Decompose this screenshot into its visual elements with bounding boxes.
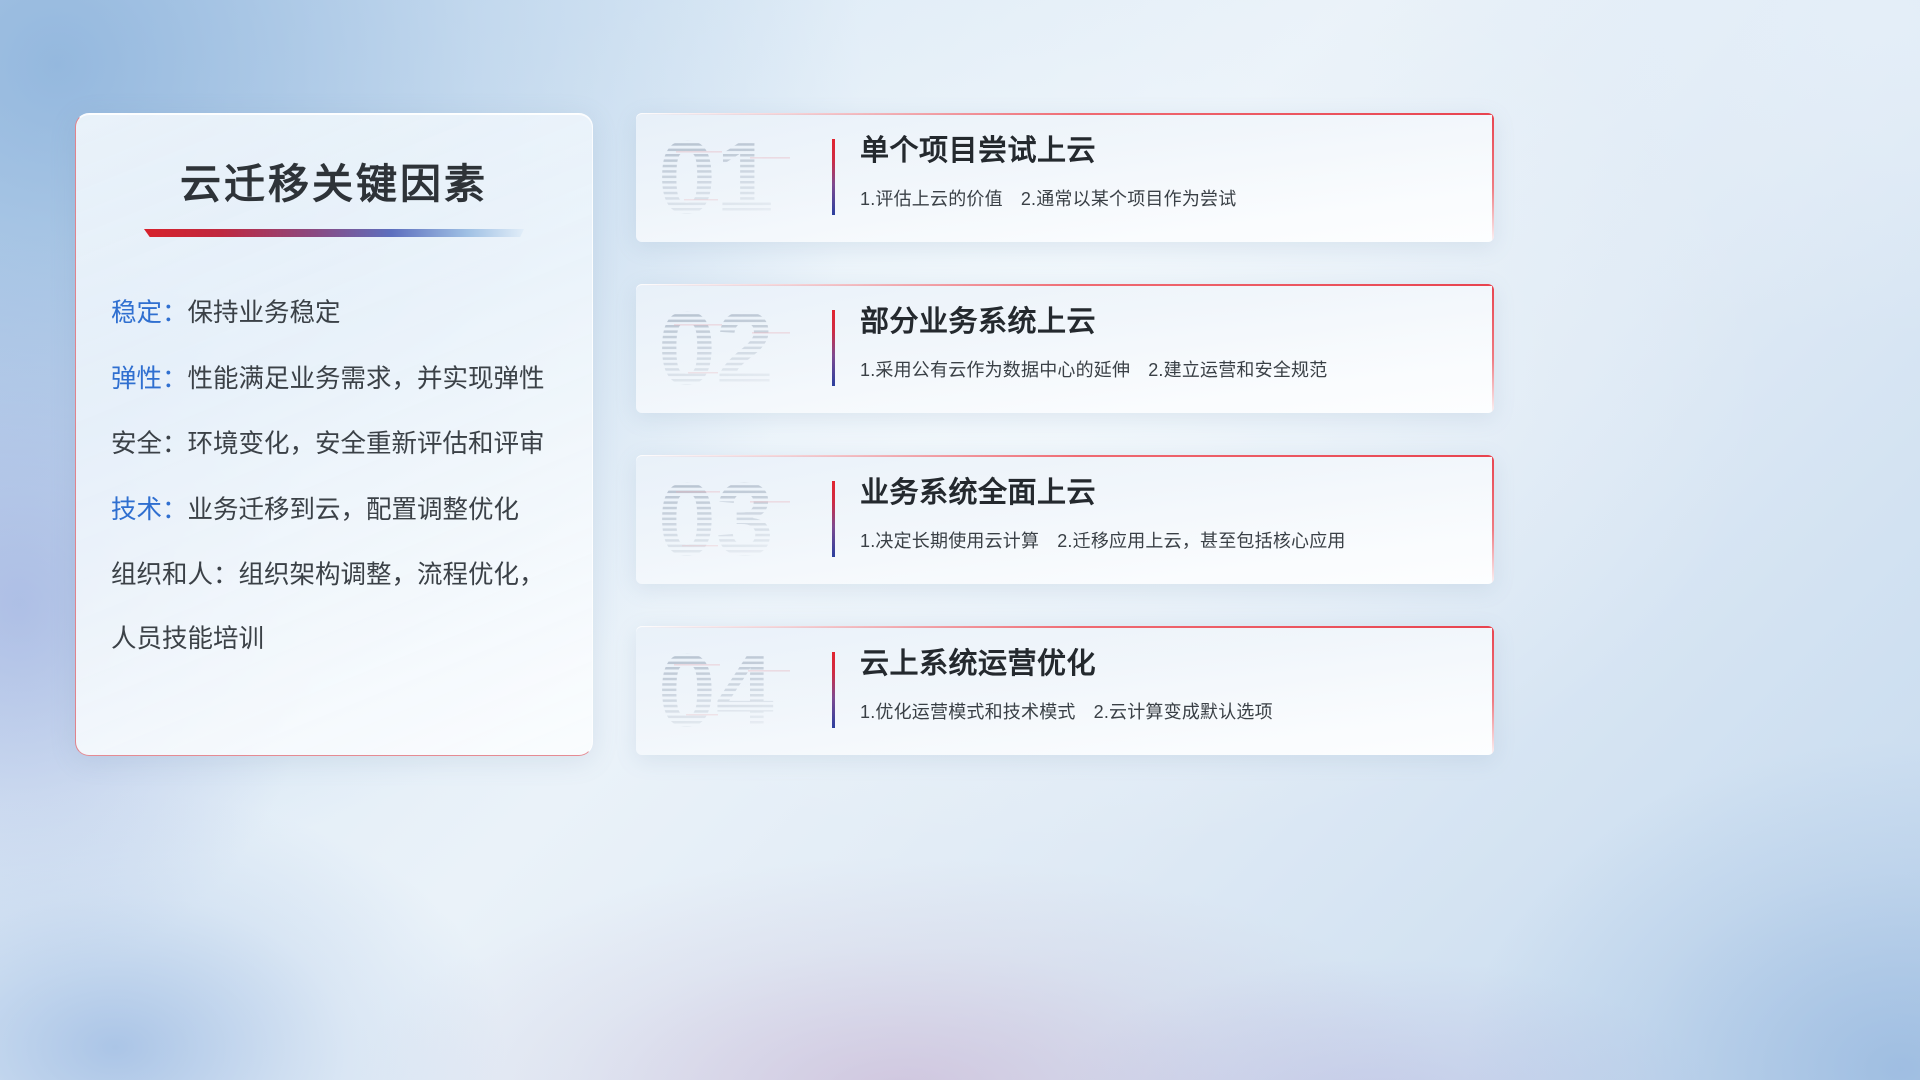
stage-detail-point-1: 1.优化运营模式和技术模式 [860,702,1076,722]
stage-detail: 1.决定长期使用云计算2.迁移应用上云，甚至包括核心应用 [860,527,1470,553]
list-item-label: 安全： [111,430,188,458]
stage-title: 部分业务系统上云 [860,306,1470,339]
stage-card[interactable]: 01 单个项目尝试上云 1.评估上云的价值2.通常以某个项目作为尝试 [636,113,1494,242]
stage-number-04-icon: 04 [654,640,829,740]
list-item: 技术：业务迁移到云，配置调整优化 [111,498,592,524]
stage-accent-divider [832,139,835,215]
stage-detail-point-2: 2.通常以某个项目作为尝试 [1021,189,1237,209]
list-item-label: 弹性： [111,365,188,393]
stage-detail-point-2: 2.建立运营和安全规范 [1148,360,1327,380]
svg-text:04: 04 [658,640,774,740]
stage-card-body: 单个项目尝试上云 1.评估上云的价值2.通常以某个项目作为尝试 [860,135,1470,211]
list-item-label: 技术： [111,496,188,524]
svg-text:01: 01 [658,127,774,227]
title-underline-rule [144,229,524,237]
stage-card[interactable]: 04 云上系统运营优化 1.优化运营模式和技术模式2.云计算变成默认选项 [636,626,1494,755]
list-item: 稳定：保持业务稳定 [111,301,592,327]
stage-title: 云上系统运营优化 [860,648,1470,681]
stage-detail: 1.优化运营模式和技术模式2.云计算变成默认选项 [860,698,1470,724]
stage-detail-point-1: 1.评估上云的价值 [860,189,1003,209]
list-item: 弹性：性能满足业务需求，并实现弹性 [111,367,592,393]
svg-text:02: 02 [658,298,774,398]
list-item-value: 环境变化，安全重新评估和评审 [188,430,545,458]
stage-detail-point-1: 1.采用公有云作为数据中心的延伸 [860,360,1130,380]
stage-accent-divider [832,481,835,557]
stage-number-01-icon: 01 [654,127,829,227]
stage-detail-point-1: 1.决定长期使用云计算 [860,531,1039,551]
stage-title: 单个项目尝试上云 [860,135,1470,168]
list-item: 安全：环境变化，安全重新评估和评审 [111,432,592,458]
list-item-value: 人员技能培训 [111,625,264,653]
stage-accent-divider [832,310,835,386]
panel-title: 云迁移关键因素 [76,150,592,210]
list-item-value: 业务迁移到云，配置调整优化 [188,496,520,524]
key-factors-panel: 云迁移关键因素 稳定：保持业务稳定 弹性：性能满足业务需求，并实现弹性 安全：环… [75,113,593,756]
stage-detail-point-2: 2.迁移应用上云，甚至包括核心应用 [1057,531,1345,551]
svg-text:03: 03 [658,469,774,569]
stage-card-body: 部分业务系统上云 1.采用公有云作为数据中心的延伸2.建立运营和安全规范 [860,306,1470,382]
stage-number-02-icon: 02 [654,298,829,398]
key-factors-list: 稳定：保持业务稳定 弹性：性能满足业务需求，并实现弹性 安全：环境变化，安全重新… [76,301,592,652]
stage-card[interactable]: 02 部分业务系统上云 1.采用公有云作为数据中心的延伸2.建立运营和安全规范 [636,284,1494,413]
stages-card-list: 01 单个项目尝试上云 1.评估上云的价值2.通常以某个项目作为尝试 [636,113,1494,797]
list-item-label: 组织和人： [111,561,239,589]
list-item: 组织和人：组织架构调整，流程优化， [111,563,592,589]
list-item-value: 性能满足业务需求，并实现弹性 [188,365,545,393]
list-item-value: 保持业务稳定 [188,299,341,327]
stage-card-body: 云上系统运营优化 1.优化运营模式和技术模式2.云计算变成默认选项 [860,648,1470,724]
stage-number-03-icon: 03 [654,469,829,569]
list-item-value: 组织架构调整，流程优化， [239,561,545,589]
list-item-continuation: 人员技能培训 [111,627,592,653]
stage-accent-divider [832,652,835,728]
stage-detail-point-2: 2.云计算变成默认选项 [1094,702,1273,722]
stage-card[interactable]: 03 业务系统全面上云 1.决定长期使用云计算2.迁移应用上云，甚至包括核心应用 [636,455,1494,584]
stage-title: 业务系统全面上云 [860,477,1470,510]
list-item-label: 稳定： [111,299,188,327]
stage-card-body: 业务系统全面上云 1.决定长期使用云计算2.迁移应用上云，甚至包括核心应用 [860,477,1470,553]
stage-detail: 1.评估上云的价值2.通常以某个项目作为尝试 [860,185,1470,211]
stage-detail: 1.采用公有云作为数据中心的延伸2.建立运营和安全规范 [860,356,1470,382]
